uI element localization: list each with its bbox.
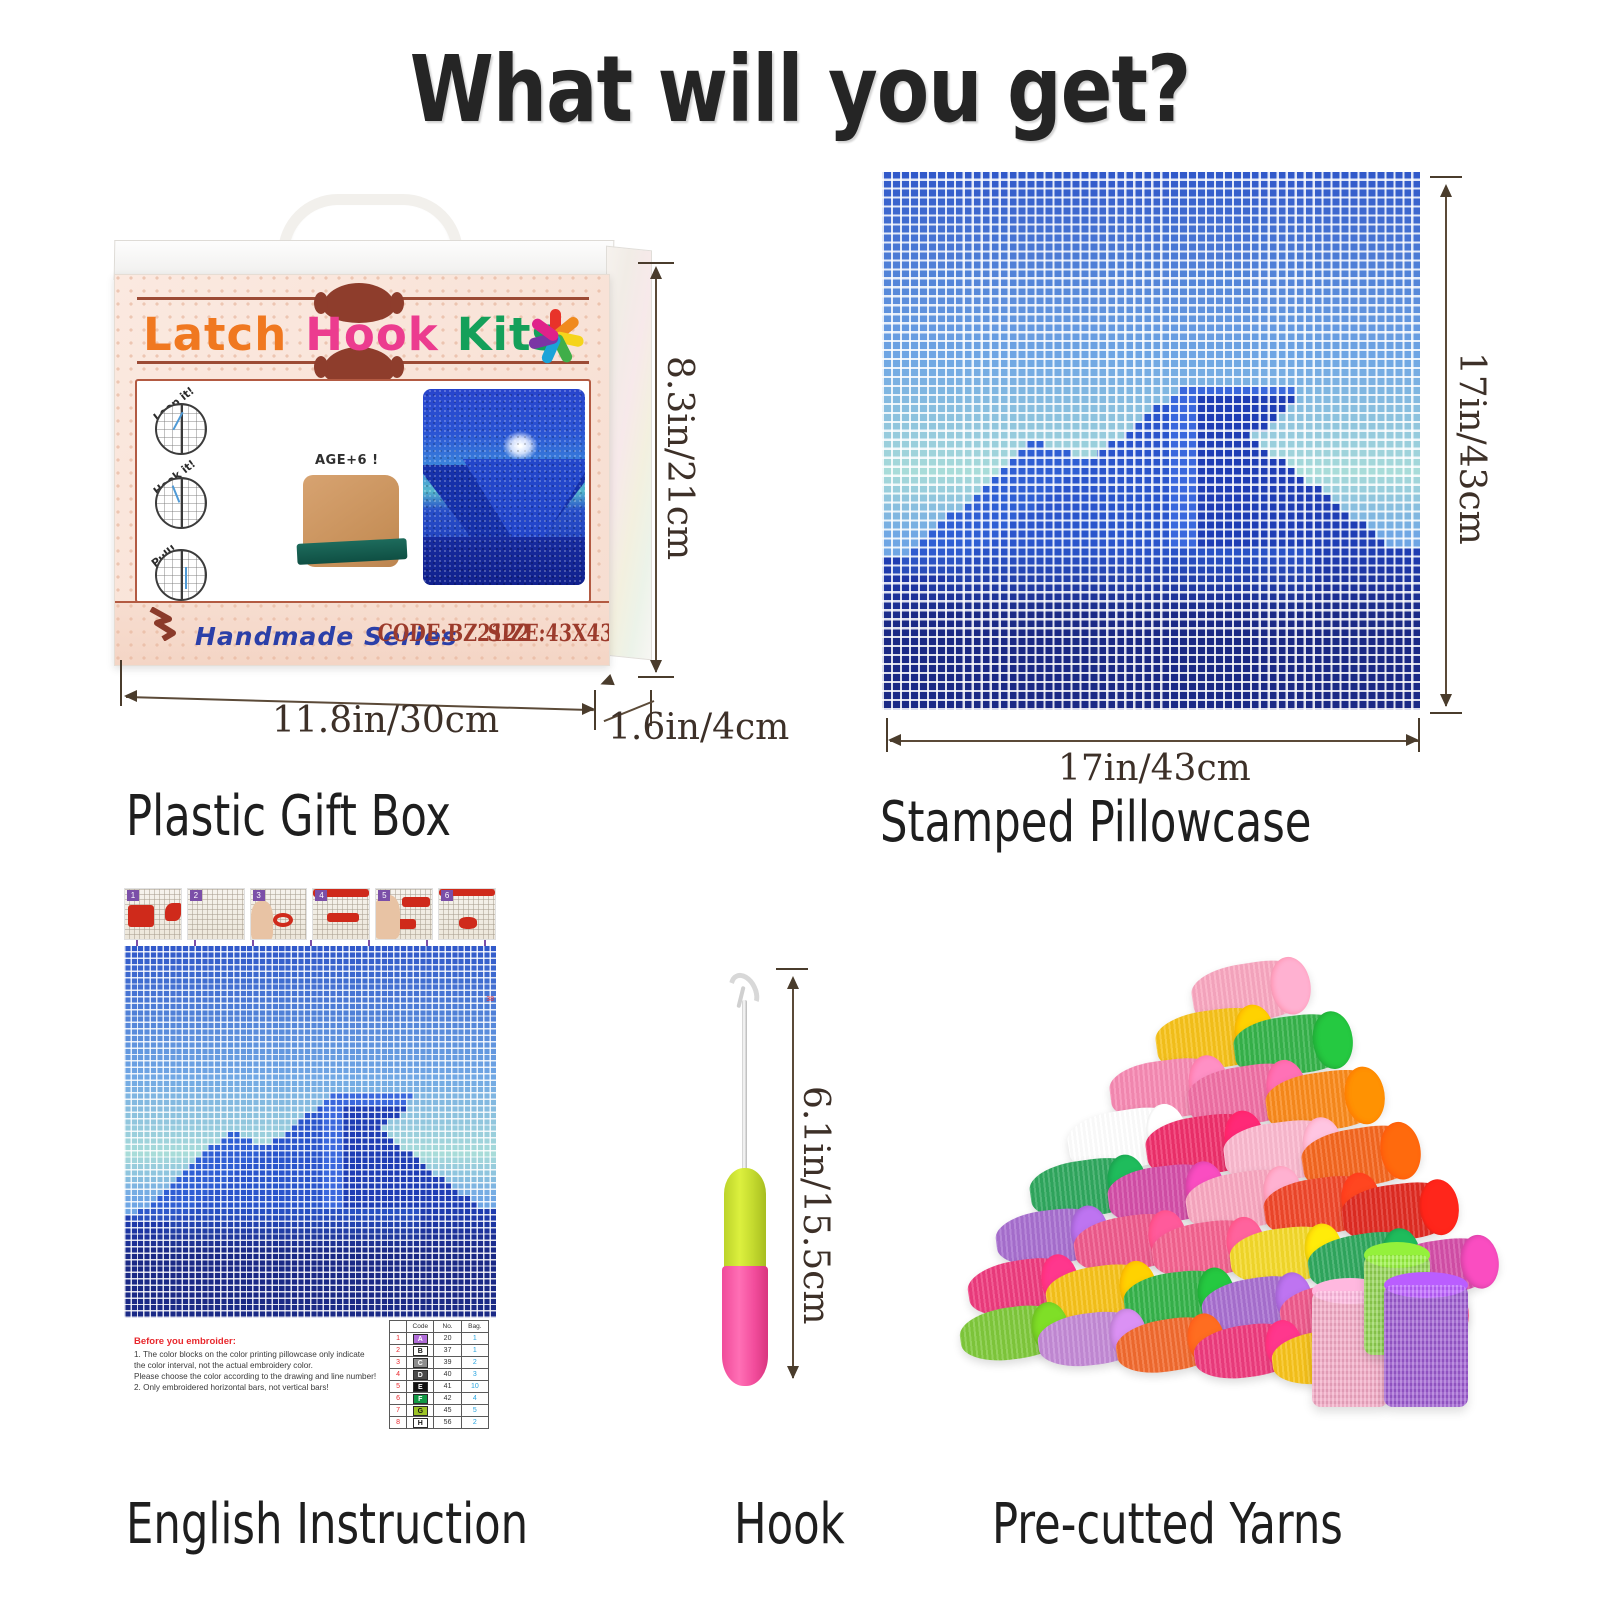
page-title: What will you get? bbox=[64, 36, 1536, 143]
yarn-fuzz-texture bbox=[423, 389, 585, 585]
thumb-loop bbox=[273, 913, 293, 927]
gift-box-image: Latch Hook Kits Loop it! Hook bbox=[108, 196, 653, 676]
hook-shaft bbox=[742, 1000, 747, 1180]
table-row: 5E4110 bbox=[390, 1381, 489, 1393]
table-row: 1A201 bbox=[390, 1333, 489, 1345]
cell-no: 45 bbox=[434, 1405, 461, 1417]
step-thumbnail-1: 1 bbox=[124, 888, 182, 940]
color-code-table-header: CodeNo.Bag. bbox=[390, 1321, 489, 1333]
thumb-hand bbox=[375, 895, 400, 939]
thumb-yarn bbox=[327, 913, 359, 922]
chart-tick bbox=[368, 940, 370, 946]
box-width-arrow-right bbox=[582, 703, 595, 715]
hook-length-label: 6.1in/15.5cm bbox=[795, 1086, 836, 1325]
color-swatch: D bbox=[413, 1370, 428, 1380]
age-label: AGE+6 ! bbox=[315, 453, 379, 468]
caption-instruction: English Instruction bbox=[126, 1492, 528, 1557]
thumb-number: 5 bbox=[378, 890, 390, 901]
cell-bag: 2 bbox=[461, 1357, 488, 1369]
ribbon-icon bbox=[149, 607, 189, 641]
caption-pillowcase: Stamped Pillowcase bbox=[880, 790, 1311, 855]
thumb-number: 6 bbox=[441, 890, 453, 901]
chart-tick bbox=[252, 940, 254, 946]
chart-tick bbox=[310, 940, 312, 946]
yarn-bundle-upright bbox=[1384, 1285, 1468, 1407]
color-swatch: E bbox=[413, 1382, 428, 1392]
pc-width-arrow-right bbox=[1406, 734, 1419, 746]
thumb-number: 4 bbox=[315, 890, 327, 901]
cell-index: 8 bbox=[390, 1417, 407, 1429]
thumb-yarn bbox=[402, 897, 430, 907]
table-row: 8H562 bbox=[390, 1417, 489, 1429]
cell-index: 4 bbox=[390, 1369, 407, 1381]
box-height-arrow-up bbox=[650, 266, 662, 279]
color-code-total: 38 bbox=[486, 996, 494, 1003]
pinwheel-logo-icon bbox=[517, 301, 595, 371]
hook-len-dim-line bbox=[792, 978, 794, 1378]
pc-height-label: 17in/43cm bbox=[1451, 352, 1492, 545]
pillowcase-design bbox=[882, 172, 1420, 710]
color-code-table: CodeNo.Bag. 1A2012B3713C3924D4035E41106F… bbox=[389, 1320, 489, 1429]
box-footer-band: Handmade Series CODE:BZ2122 SIZE:43X43CM bbox=[115, 601, 610, 665]
thumb-number: 2 bbox=[190, 890, 202, 901]
box-height-label: 8.3in/21cm bbox=[659, 356, 700, 560]
cell-bag: 2 bbox=[461, 1417, 488, 1429]
box-height-tick-bottom bbox=[638, 676, 674, 678]
cell-index: 7 bbox=[390, 1405, 407, 1417]
color-swatch: C bbox=[413, 1358, 428, 1368]
color-swatch: H bbox=[413, 1418, 428, 1428]
thumb-yarn bbox=[459, 917, 477, 929]
hook-len-arrow-down bbox=[787, 1366, 799, 1379]
box-front-face: Latch Hook Kits Loop it! Hook bbox=[114, 274, 610, 666]
brand-word-hook: Hook bbox=[305, 308, 438, 361]
color-code-table-body: 1A2012B3713C3924D4035E41106F4247G4558H56… bbox=[390, 1333, 489, 1429]
pc-height-tick-bottom bbox=[1430, 712, 1462, 714]
product-size: SIZE:43X43CM bbox=[487, 620, 610, 648]
cell-bag: 4 bbox=[461, 1393, 488, 1405]
stamped-pillowcase-image bbox=[882, 172, 1420, 710]
cell-bag: 1 bbox=[461, 1333, 488, 1345]
instruction-chart-ticks bbox=[124, 940, 496, 946]
cell-code: H bbox=[407, 1417, 434, 1429]
step-thumbnail-3: 3 bbox=[250, 888, 308, 940]
box-width-label: 11.8in/30cm bbox=[272, 700, 499, 741]
hook-handle-upper bbox=[724, 1168, 766, 1272]
step-thumbnail-2: 2 bbox=[187, 888, 245, 940]
before-line-3: Please choose the color according to the… bbox=[134, 1371, 384, 1382]
cell-bag: 1 bbox=[461, 1345, 488, 1357]
cell-no: 39 bbox=[434, 1357, 461, 1369]
step-needle-3 bbox=[181, 551, 183, 599]
instruction-design bbox=[124, 946, 496, 1318]
before-line-4: 2. Only embroidered horizontal bars, not… bbox=[134, 1382, 384, 1393]
table-header-Bag.: Bag. bbox=[461, 1321, 488, 1333]
product-infographic: What will you get? Latch Hook Kits bbox=[0, 0, 1600, 1600]
table-row: 2B371 bbox=[390, 1345, 489, 1357]
cell-no: 20 bbox=[434, 1333, 461, 1345]
box-width-tick-left bbox=[120, 660, 122, 706]
cell-bag: 10 bbox=[461, 1381, 488, 1393]
thumb-number: 1 bbox=[127, 890, 139, 901]
cell-no: 42 bbox=[434, 1393, 461, 1405]
pc-height-arrow-down bbox=[1440, 694, 1452, 707]
brand-word-latch: Latch bbox=[143, 308, 287, 361]
pc-width-arrow-left bbox=[888, 734, 901, 746]
color-swatch: G bbox=[413, 1406, 428, 1416]
cell-bag: 5 bbox=[461, 1405, 488, 1417]
box-side-face bbox=[606, 246, 652, 661]
table-header-No.: No. bbox=[434, 1321, 461, 1333]
before-line-2: the color interval, not the actual embro… bbox=[134, 1360, 384, 1371]
cell-no: 56 bbox=[434, 1417, 461, 1429]
pc-height-tick-top bbox=[1430, 176, 1462, 178]
cell-no: 41 bbox=[434, 1381, 461, 1393]
thumb-number: 3 bbox=[253, 890, 265, 901]
caption-yarns: Pre-cutted Yarns bbox=[992, 1492, 1343, 1557]
table-header-index bbox=[390, 1321, 407, 1333]
cell-code: D bbox=[407, 1369, 434, 1381]
brand-title: Latch Hook Kits bbox=[143, 305, 523, 363]
chart-tick bbox=[136, 940, 138, 946]
cell-code: F bbox=[407, 1393, 434, 1405]
finished-pillow-illustration bbox=[423, 389, 585, 585]
cell-no: 40 bbox=[434, 1369, 461, 1381]
box-depth-label: 1.6in/4cm bbox=[608, 707, 789, 748]
box-depth-arrow bbox=[598, 674, 615, 690]
table-row: 7G455 bbox=[390, 1405, 489, 1417]
pc-width-label: 17in/43cm bbox=[1058, 748, 1251, 789]
thumb-yarn bbox=[128, 905, 154, 927]
table-row: 6F424 bbox=[390, 1393, 489, 1405]
instruction-chart bbox=[124, 946, 496, 1318]
cell-index: 5 bbox=[390, 1381, 407, 1393]
box-height-dim-line bbox=[655, 268, 657, 672]
table-row: 3C392 bbox=[390, 1357, 489, 1369]
chart-tick bbox=[484, 940, 486, 946]
step-needle-2 bbox=[181, 479, 183, 527]
caption-gift-box: Plastic Gift Box bbox=[126, 784, 451, 849]
chart-tick bbox=[194, 940, 196, 946]
cell-bag: 3 bbox=[461, 1369, 488, 1381]
pc-height-arrow-up bbox=[1440, 184, 1452, 197]
step-thumbnail-5: 5 bbox=[375, 888, 433, 940]
hook-len-tick-top bbox=[776, 968, 808, 970]
cell-code: G bbox=[407, 1405, 434, 1417]
hook-len-arrow-up bbox=[787, 976, 799, 989]
caption-hook: Hook bbox=[734, 1492, 845, 1557]
table-row: 4D403 bbox=[390, 1369, 489, 1381]
color-swatch: F bbox=[413, 1394, 428, 1404]
color-swatch: A bbox=[413, 1334, 428, 1344]
thumb-hand bbox=[251, 901, 273, 940]
box-height-arrow-down bbox=[650, 660, 662, 673]
pre-cutted-yarns-image bbox=[960, 955, 1460, 1425]
pc-height-dim-line bbox=[1445, 186, 1447, 706]
chart-tick bbox=[426, 940, 428, 946]
color-swatch: B bbox=[413, 1346, 428, 1356]
table-header-Code: Code bbox=[407, 1321, 434, 1333]
cell-code: A bbox=[407, 1333, 434, 1345]
english-instruction-image: 123456 Before you embroider: 1. The colo… bbox=[124, 888, 496, 1450]
cell-code: E bbox=[407, 1381, 434, 1393]
yarn-texture bbox=[1384, 1285, 1468, 1407]
step-hook-3 bbox=[185, 567, 187, 589]
cell-index: 3 bbox=[390, 1357, 407, 1369]
cell-code: C bbox=[407, 1357, 434, 1369]
cell-no: 37 bbox=[434, 1345, 461, 1357]
box-height-tick-top bbox=[638, 262, 674, 264]
before-you-embroider-block: Before you embroider: 1. The color block… bbox=[134, 1336, 384, 1393]
box-illustration-panel: Loop it! Hook it! Pull! AGE+6 ! bbox=[135, 379, 591, 603]
step-thumbnail-strip: 123456 bbox=[124, 888, 496, 940]
before-title: Before you embroider: bbox=[134, 1336, 384, 1347]
thumb-yarn2 bbox=[165, 903, 181, 921]
before-line-1: 1. The color blocks on the color printin… bbox=[134, 1349, 384, 1360]
latch-hook-image bbox=[700, 960, 790, 1390]
pc-width-dim-line bbox=[890, 740, 1418, 742]
box-width-arrow-left bbox=[124, 690, 137, 702]
cell-index: 2 bbox=[390, 1345, 407, 1357]
cell-index: 1 bbox=[390, 1333, 407, 1345]
cell-index: 6 bbox=[390, 1393, 407, 1405]
hook-handle-lower bbox=[722, 1266, 768, 1386]
step-thumbnail-6: 6 bbox=[438, 888, 496, 940]
step-thumbnail-4: 4 bbox=[312, 888, 370, 940]
cell-code: B bbox=[407, 1345, 434, 1357]
